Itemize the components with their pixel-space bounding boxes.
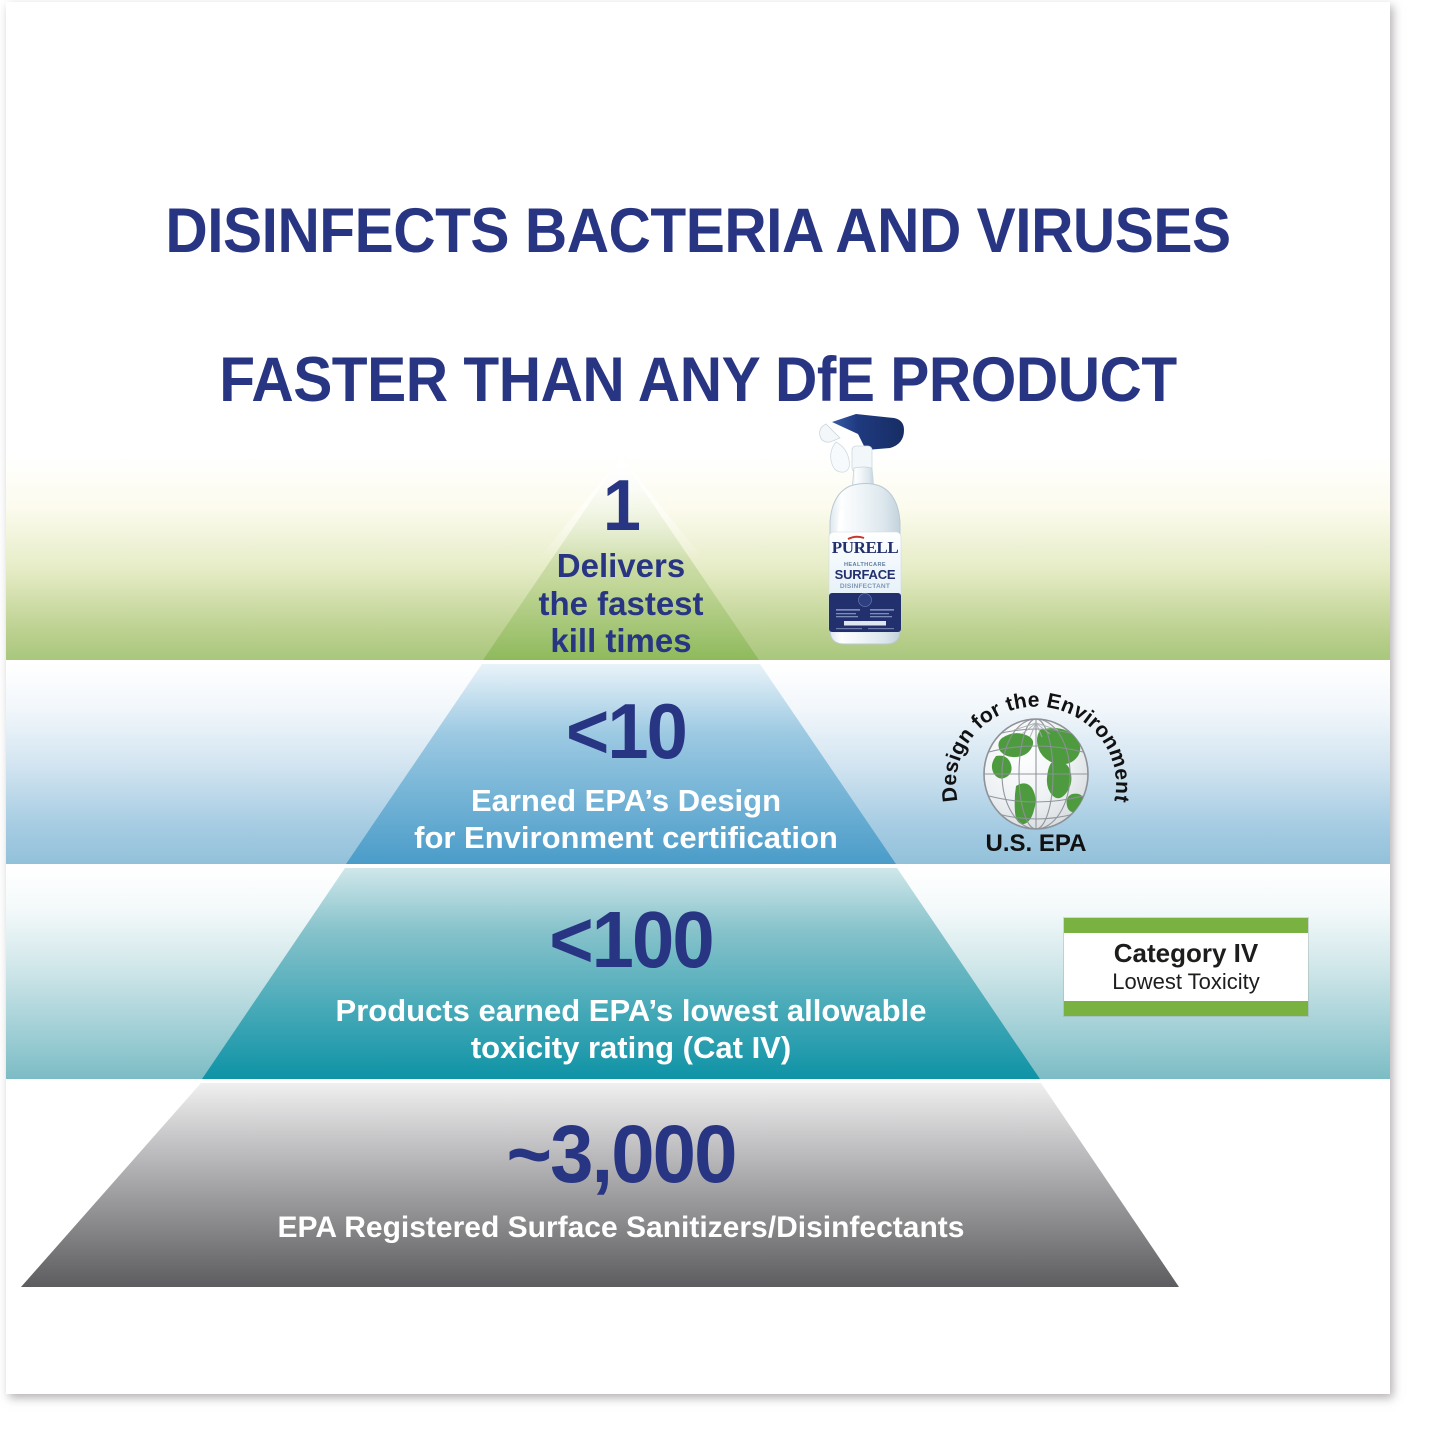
tier-2-value: <10	[351, 692, 902, 770]
tier-4-label: EPA Registered Surface Sanitizers/Disinf…	[186, 1210, 1056, 1246]
title-line-1: DISINFECTS BACTERIA AND VIRUSES	[54, 194, 1341, 268]
design-for-environment-logo: Design for the Environment U.S. EPA	[936, 690, 1136, 858]
tier-3-label: Products earned EPA’s lowest allowable t…	[236, 992, 1026, 1066]
bottle-trigger-head	[820, 414, 904, 472]
tier-4-value: ~3,000	[208, 1114, 1035, 1196]
purell-spray-bottle: PURELL HEALTHCARE SURFACE DISINFECTANT	[796, 406, 914, 654]
infographic-page: DISINFECTS BACTERIA AND VIRUSES FASTER T…	[0, 0, 1445, 1445]
page-title: DISINFECTS BACTERIA AND VIRUSES FASTER T…	[54, 120, 1341, 492]
tier-1-text: 1 Delivers the fastest kill times	[476, 472, 766, 660]
dfe-bottom-text: U.S. EPA	[986, 830, 1087, 857]
tier-4-text: ~3,000 EPA Registered Surface Sanitizers…	[186, 1114, 1056, 1246]
category-iv-badge: Category IV Lowest Toxicity	[1064, 918, 1308, 1016]
tier-3-text: <100 Products earned EPA’s lowest allowa…	[236, 900, 1026, 1066]
tier-3-value: <100	[256, 900, 1007, 980]
page-sheet: DISINFECTS BACTERIA AND VIRUSES FASTER T…	[6, 2, 1390, 1394]
bottle-brand-text: PURELL	[832, 538, 899, 557]
bottle-line2-text: SURFACE	[835, 567, 896, 582]
bottle-label: PURELL HEALTHCARE SURFACE DISINFECTANT	[829, 532, 901, 632]
badge-title: Category IV	[1114, 940, 1259, 967]
badge-subtitle: Lowest Toxicity	[1112, 969, 1260, 994]
title-line-2: FASTER THAN ANY DfE PRODUCT	[54, 343, 1341, 417]
bottle-line3-text: DISINFECTANT	[840, 583, 890, 590]
tier-1-label: Delivers the fastest kill times	[476, 547, 766, 660]
tier-2-label: Earned EPA’s Design for Environment cert…	[336, 782, 916, 856]
tier-1-value: 1	[483, 472, 759, 541]
tier-2-text: <10 Earned EPA’s Design for Environment …	[336, 692, 916, 856]
